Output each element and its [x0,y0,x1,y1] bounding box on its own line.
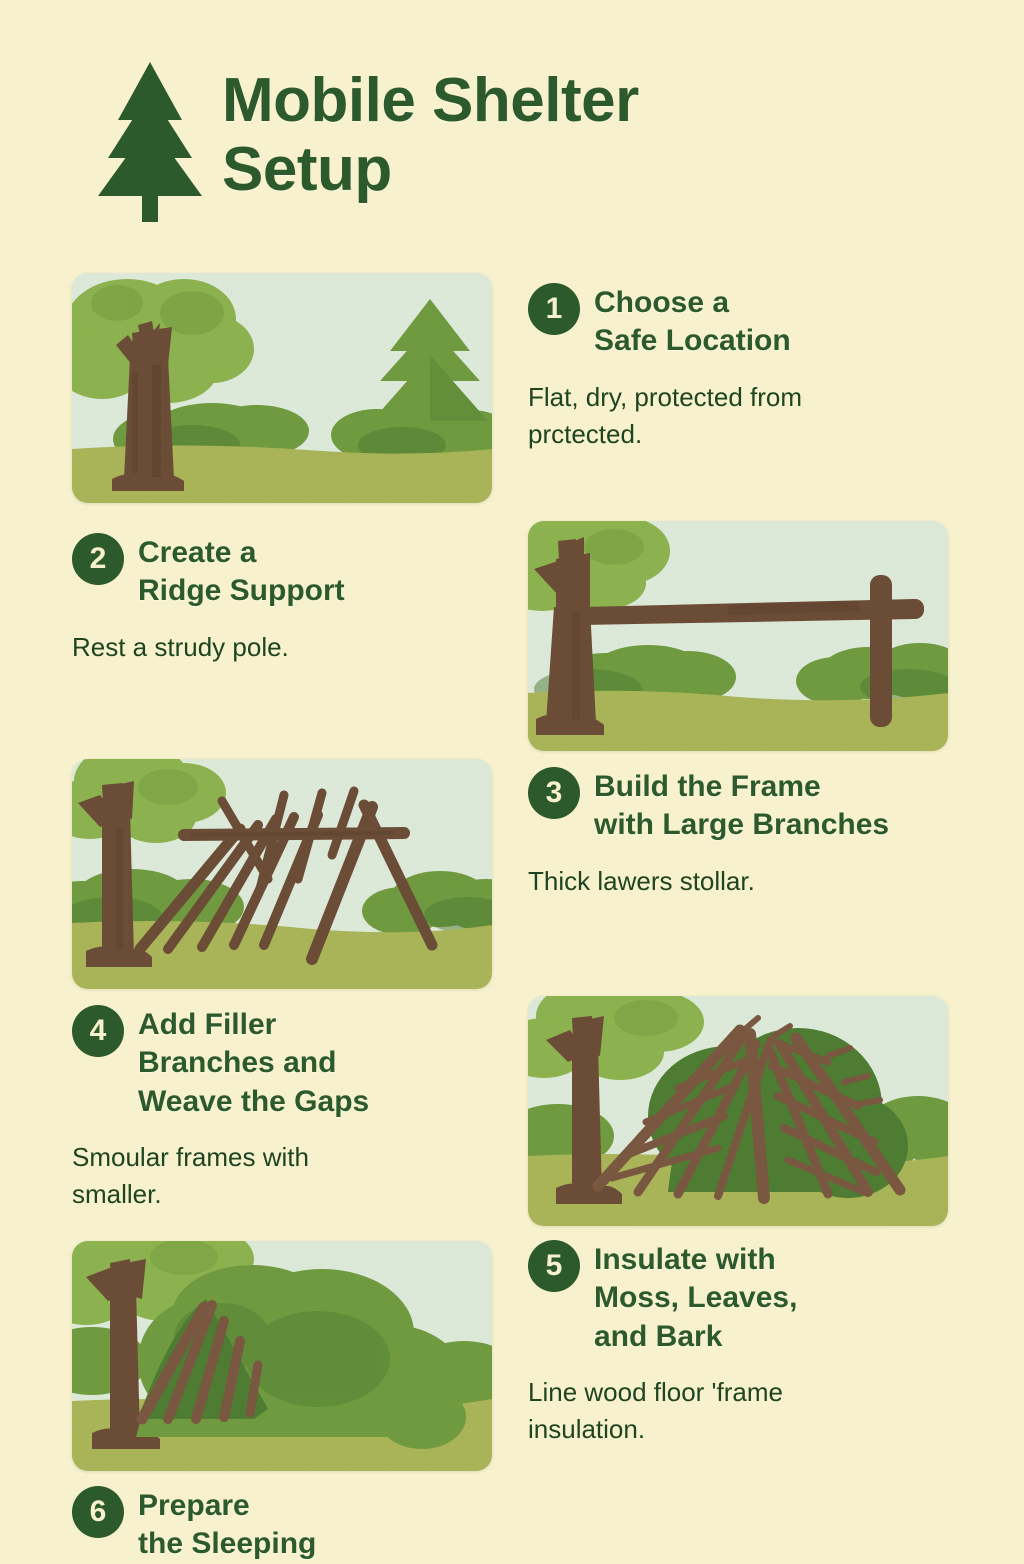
step-1-badge: 1 [528,283,580,335]
poster-header: Mobile Shelter Setup [0,0,1024,250]
step-6-headline-line-1: Prepare [138,1487,316,1525]
step-5-headline-line-2: Moss, Leaves, [594,1279,797,1317]
step-1-heading: 1 Choose a Safe Location [528,281,988,361]
step-3-headline: Build the Frame with Large Branches [594,765,889,845]
step-5-badge: 5 [528,1240,580,1292]
step-5-illustration [72,1241,492,1471]
step-6-badge: 6 [72,1486,124,1538]
step-1-body: Flat, dry, protected from prctected. [528,379,988,453]
step-1-body-line-2: prctected. [528,416,988,453]
step-4-headline-line-1: Add Filler [138,1006,369,1044]
step-5-body-line-1: Line wood floor 'frame [528,1374,988,1411]
step-1-headline-line-1: Choose a [594,284,791,322]
pine-tree-icon [90,58,210,223]
step-2-badge: 2 [72,533,124,585]
step-3-headline-line-1: Build the Frame [594,768,889,806]
step-4-headline-line-2: Branches and [138,1044,369,1082]
title-line-2: Setup [222,135,982,204]
step-2-headline-line-1: Create a [138,534,345,572]
step-3-heading: 3 Build the Frame with Large Branches [528,765,988,845]
step-4-body-line-2: smaller. [72,1176,532,1213]
page-title: Mobile Shelter Setup [222,66,982,205]
step-5-headline-line-1: Insulate with [594,1241,797,1279]
step-1-headline: Choose a Safe Location [594,281,791,361]
step-1-headline-line-2: Safe Location [594,322,791,360]
step-4-heading: 4 Add Filler Branches and Weave the Gaps [72,1003,532,1121]
step-4-headline-line-3: Weave the Gaps [138,1083,369,1121]
step-2-body: Rest a strudy pole. [72,629,532,666]
step-2-illustration [528,521,948,751]
step-3-badge: 3 [528,767,580,819]
step-2-text: 2 Create a Ridge Support Rest a strudy p… [72,531,532,666]
step-6-headline-line-2: the Sleeping [138,1525,316,1563]
step-1-illustration [72,273,492,503]
step-3-illustration [72,759,492,989]
step-2-headline-line-2: Ridge Support [138,572,345,610]
step-4-body: Smoular frames with smaller. [72,1139,532,1213]
step-2-body-line-1: Rest a strudy pole. [72,629,532,666]
step-1-text: 1 Choose a Safe Location Flat, dry, prot… [528,281,988,453]
step-4-text: 4 Add Filler Branches and Weave the Gaps… [72,1003,532,1213]
step-3-text: 3 Build the Frame with Large Branches Th… [528,765,988,900]
step-3-body-line-1: Thick lawers stollar. [528,863,988,900]
step-5-text: 5 Insulate with Moss, Leaves, and Bark L… [528,1238,988,1448]
step-5-headline-line-3: and Bark [594,1318,797,1356]
step-5-body-line-2: insulation. [528,1411,988,1448]
step-3-headline-line-2: with Large Branches [594,806,889,844]
step-6-text: 6 Prepare the Sleeping [72,1484,532,1564]
step-6-headline: Prepare the Sleeping [138,1484,316,1564]
step-4-body-line-1: Smoular frames with [72,1139,532,1176]
step-2-headline: Create a Ridge Support [138,531,345,611]
step-5-heading: 5 Insulate with Moss, Leaves, and Bark [528,1238,988,1356]
step-4-headline: Add Filler Branches and Weave the Gaps [138,1003,369,1121]
title-line-1: Mobile Shelter [222,66,982,135]
step-4-badge: 4 [72,1005,124,1057]
step-6-heading: 6 Prepare the Sleeping [72,1484,532,1564]
step-5-body: Line wood floor 'frame insulation. [528,1374,988,1448]
step-1-body-line-1: Flat, dry, protected from [528,379,988,416]
step-4-illustration [528,996,948,1226]
step-5-headline: Insulate with Moss, Leaves, and Bark [594,1238,797,1356]
step-2-heading: 2 Create a Ridge Support [72,531,532,611]
step-3-body: Thick lawers stollar. [528,863,988,900]
